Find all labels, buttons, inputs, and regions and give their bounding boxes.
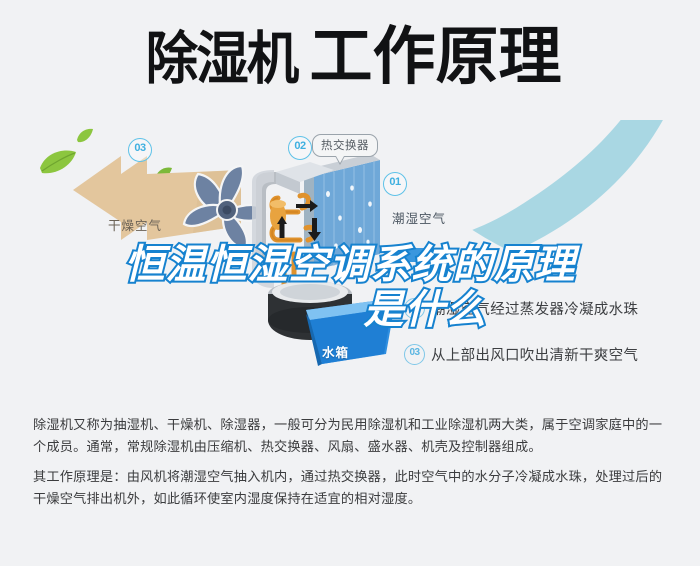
legend-badge-02: 02 xyxy=(404,298,425,319)
dehumidifier-unit-icon xyxy=(248,142,400,372)
humid-air-label: 潮湿空气 xyxy=(392,208,446,227)
legend-badge-03: 03 xyxy=(404,344,425,365)
badge-01-humid-air: 01 xyxy=(383,172,407,196)
humid-air-inlet-arrow-icon xyxy=(392,242,448,268)
heat-exchanger-callout: 热交换器 xyxy=(312,134,378,157)
page-title-part2: 工作原理 xyxy=(310,26,562,89)
legend-row-1: 02 潮湿空气经过蒸发器冷凝成水珠 xyxy=(404,298,694,319)
legend-row-2: 03 从上部出风口吹出清新干爽空气 xyxy=(404,344,694,365)
body-copy: 除湿机又称为抽湿机、干燥机、除湿器，一般可分为民用除湿机和工业除湿机两大类，属于… xyxy=(33,414,673,510)
badge-03-dry-air: 03 xyxy=(128,138,152,162)
water-tank-label: 水箱 xyxy=(322,342,349,361)
page-title: 除湿机工作原理 xyxy=(0,26,700,89)
dehumidifier-diagram: 干燥空气 潮湿空气 03 01 02 热交换器 水箱 02 潮湿空气经过蒸发器冷… xyxy=(0,120,700,395)
infographic-page: 除湿机工作原理 xyxy=(0,0,700,566)
badge-02-heat-exchanger: 02 xyxy=(288,136,312,160)
leaf-icon-small xyxy=(75,126,95,146)
legend-text-02: 潮湿空气经过蒸发器冷凝成水珠 xyxy=(431,298,638,319)
page-title-part1: 除湿机 xyxy=(145,31,297,88)
dry-air-label: 干燥空气 xyxy=(108,215,162,234)
legend-text-03: 从上部出风口吹出清新干爽空气 xyxy=(431,344,638,365)
body-paragraph-1: 除湿机又称为抽湿机、干燥机、除湿器，一般可分为民用除湿机和工业除湿机两大类，属于… xyxy=(33,414,673,458)
body-paragraph-2: 其工作原理是：由风机将潮湿空气抽入机内，通过热交换器，此时空气中的水分子冷凝成水… xyxy=(33,466,673,510)
